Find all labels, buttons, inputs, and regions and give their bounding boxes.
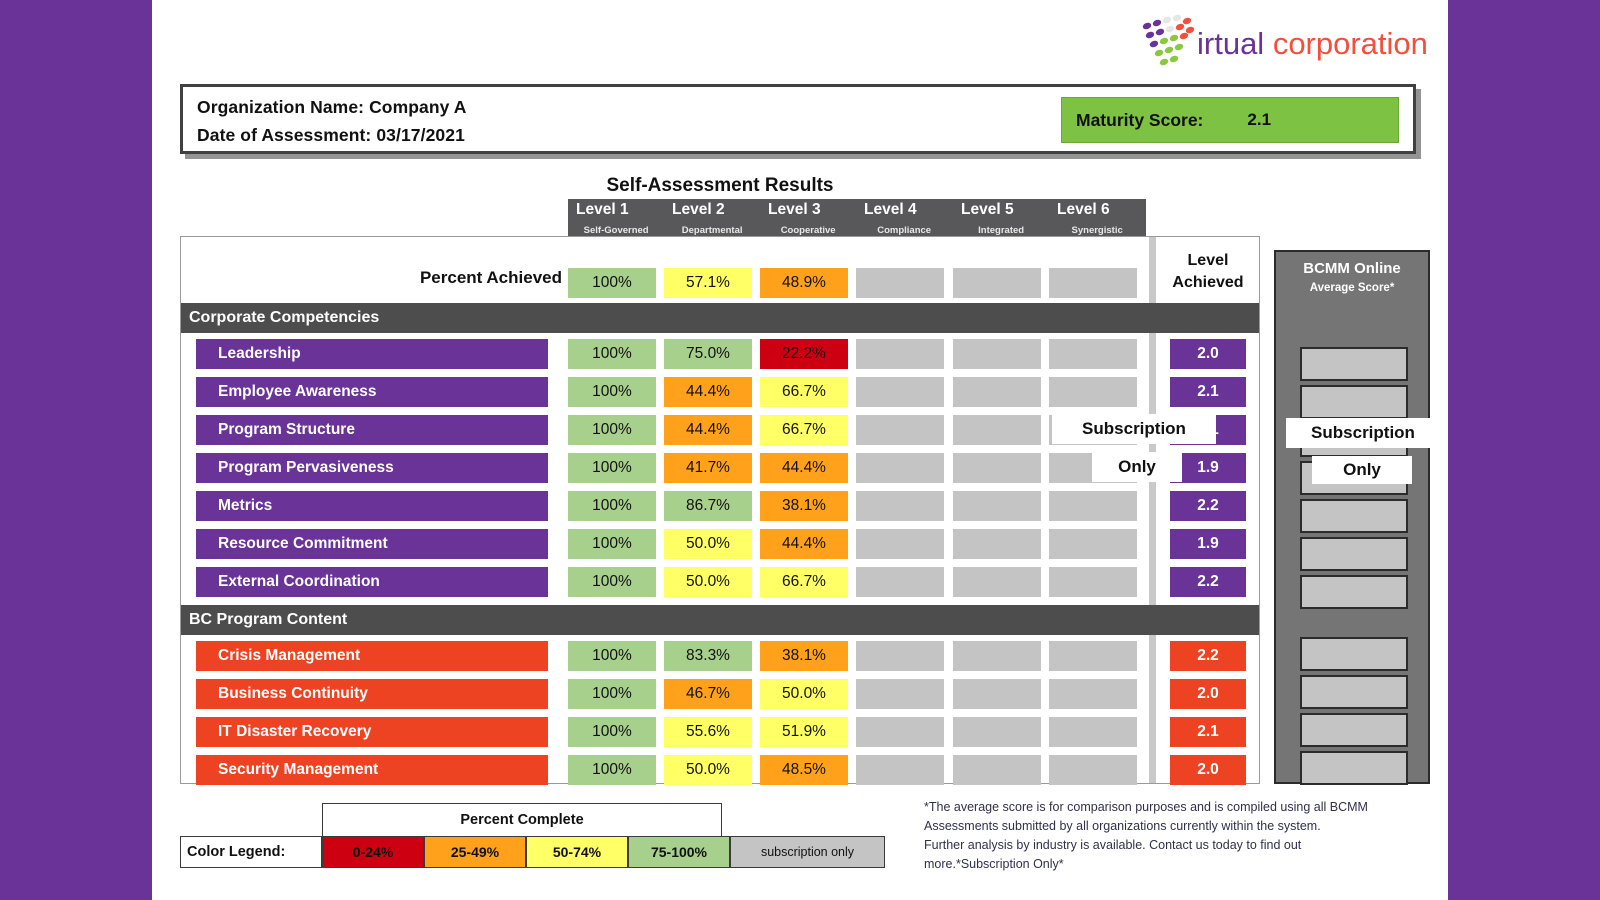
row-1-7-level-1-value: 100% [568,567,656,597]
percent-achieved-level-6-value [1049,268,1137,298]
level-subtitle: Synergistic [1049,225,1145,236]
level-achieved-header: Level Achieved [1156,250,1260,294]
bcmm-average-score-box-10 [1300,713,1408,747]
row-2-4-level-3-value: 48.5% [760,755,848,785]
section-header-label: BC Program Content [189,611,347,629]
level-achieved-value-2-4: 2.0 [1170,755,1246,785]
level-name: Level 1 [568,201,664,219]
bcmm-subscription-overlay-line2: Only [1312,456,1412,484]
level-subtitle: Integrated [953,225,1049,236]
bcmm-panel-title-line2: Average Score* [1276,282,1428,294]
row-label-text: Program Pervasiveness [218,459,394,477]
report-page: irtual corporation Organization Name: Co… [152,0,1448,900]
row-1-4-level-3-value: 44.4% [760,453,848,483]
row-label-2-4[interactable]: Security Management [196,755,548,785]
row-1-5-level-5-value [953,491,1041,521]
row-label-2-2[interactable]: Business Continuity [196,679,548,709]
row-2-3-cells: 100%55.6%51.9% [568,717,1146,747]
legend-swatch-subscription-only: subscription only [730,836,885,868]
row-1-4-cells: 100%41.7%44.4% [568,453,1146,483]
level-subtitle: Compliance [856,225,952,236]
subscription-overlay-line1: Subscription [1052,414,1216,444]
row-label-text: Resource Commitment [218,535,388,553]
row-label-1-6[interactable]: Resource Commitment [196,529,548,559]
row-1-5-level-1-value: 100% [568,491,656,521]
row-label-text: Business Continuity [218,685,368,703]
subscription-overlay-line2: Only [1092,452,1182,482]
row-1-1-level-1-value: 100% [568,339,656,369]
row-1-1-level-5-value [953,339,1041,369]
row-2-2-level-4-value [856,679,944,709]
virtual-corporation-logo: irtual corporation [1137,8,1427,70]
level-achieved-value-1-6: 1.9 [1170,529,1246,559]
row-1-7-level-2-value: 50.0% [664,567,752,597]
footnote-line-4: more.*Subscription Only* [924,855,1444,874]
bcmm-average-score-box-2 [1300,385,1408,419]
level-achieved-value-2-3: 2.1 [1170,717,1246,747]
maturity-score-badge: Maturity Score: 2.1 [1061,97,1399,143]
row-1-1-level-2-value: 75.0% [664,339,752,369]
row-1-3-level-3-value: 66.7% [760,415,848,445]
row-label-1-1[interactable]: Leadership [196,339,548,369]
section-header-1: Corporate Competencies [181,303,1259,333]
row-2-2-level-3-value: 50.0% [760,679,848,709]
bcmm-online-panel: BCMM Online Average Score* [1274,250,1430,784]
row-label-text: External Coordination [218,573,380,591]
legend-swatch-4: 75-100% [628,836,730,868]
bcmm-average-score-box-9 [1300,675,1408,709]
row-2-4-cells: 100%50.0%48.5% [568,755,1146,785]
logo-word-virtual: irtual [1197,26,1264,61]
bcmm-panel-title-line1: BCMM Online [1276,260,1428,277]
row-1-2-cells: 100%44.4%66.7% [568,377,1146,407]
level-achieved-value-2-2: 2.0 [1170,679,1246,709]
row-label-1-7[interactable]: External Coordination [196,567,548,597]
row-2-4-level-5-value [953,755,1041,785]
color-legend: Color Legend: 0-24%25-49%50-74%75-100%su… [180,836,880,868]
row-label-text: Crisis Management [218,647,360,665]
row-1-6-level-2-value: 50.0% [664,529,752,559]
row-1-7-cells: 100%50.0%66.7% [568,567,1146,597]
level-name: Level 5 [953,201,1049,219]
row-2-2-level-6-value [1049,679,1137,709]
assessment-date: Date of Assessment: 03/17/2021 [197,125,465,146]
section-header-2: BC Program Content [181,605,1259,635]
row-label-2-1[interactable]: Crisis Management [196,641,548,671]
row-2-4-level-1-value: 100% [568,755,656,785]
level-name: Level 2 [664,201,760,219]
row-2-2-cells: 100%46.7%50.0% [568,679,1146,709]
row-1-6-level-6-value [1049,529,1137,559]
percent-achieved-cells: 100%57.1%48.9% [568,268,1146,298]
percent-achieved-level-4-value [856,268,944,298]
row-2-2-level-5-value [953,679,1041,709]
row-2-4-level-2-value: 50.0% [664,755,752,785]
row-1-4-level-4-value [856,453,944,483]
level-name: Level 4 [856,201,952,219]
row-label-1-3[interactable]: Program Structure [196,415,548,445]
row-1-4-level-1-value: 100% [568,453,656,483]
level-achieved-value-1-2: 2.1 [1170,377,1246,407]
row-label-1-4[interactable]: Program Pervasiveness [196,453,548,483]
row-1-3-level-2-value: 44.4% [664,415,752,445]
maturity-score-label: Maturity Score: [1076,110,1203,131]
footnote-line-1: *The average score is for comparison pur… [924,798,1444,817]
level-achieved-value-2-1: 2.2 [1170,641,1246,671]
level-name: Level 6 [1049,201,1145,219]
bcmm-average-score-box-8 [1300,637,1408,671]
row-1-2-level-2-value: 44.4% [664,377,752,407]
color-legend-label-text: Color Legend: [187,844,285,860]
row-2-4-level-4-value [856,755,944,785]
row-1-4-level-5-value [953,453,1041,483]
level-achieved-header-line1: Level [1156,250,1260,272]
row-2-3-level-6-value [1049,717,1137,747]
bcmm-average-score-box-1 [1300,347,1408,381]
row-1-2-level-4-value [856,377,944,407]
row-1-1-level-4-value [856,339,944,369]
maturity-score-value: 2.1 [1247,110,1271,130]
row-2-1-level-4-value [856,641,944,671]
bcmm-average-score-box-11 [1300,751,1408,785]
row-1-2-level-3-value: 66.7% [760,377,848,407]
level-subtitle: Self-Governed [568,225,664,236]
bcmm-average-score-box-6 [1300,537,1408,571]
percent-achieved-level-5-value [953,268,1041,298]
legend-swatch-3: 50-74% [526,836,628,868]
row-1-1-level-6-value [1049,339,1137,369]
row-1-6-level-5-value [953,529,1041,559]
logo-wordmark: irtual corporation [1197,26,1428,62]
level-achieved-value-1-5: 2.2 [1170,491,1246,521]
row-label-text: Employee Awareness [218,383,377,401]
level-achieved-value-1-1: 2.0 [1170,339,1246,369]
section-header-label: Corporate Competencies [189,309,379,327]
row-2-2-level-1-value: 100% [568,679,656,709]
percent-achieved-label: Percent Achieved [180,268,562,288]
row-label-text: Security Management [218,761,378,779]
level-subtitle: Cooperative [760,225,856,236]
assessment-header-box: Organization Name: Company A Date of Ass… [180,84,1416,154]
row-2-3-level-5-value [953,717,1041,747]
row-1-3-level-1-value: 100% [568,415,656,445]
row-1-5-cells: 100%86.7%38.1% [568,491,1146,521]
row-1-6-level-4-value [856,529,944,559]
logo-word-corporation: corporation [1264,26,1428,61]
row-label-text: Metrics [218,497,272,515]
row-2-1-level-3-value: 38.1% [760,641,848,671]
row-label-1-5[interactable]: Metrics [196,491,548,521]
row-1-5-level-3-value: 38.1% [760,491,848,521]
level-achieved-header-line2: Achieved [1156,272,1260,294]
row-1-2-level-6-value [1049,377,1137,407]
row-1-7-level-6-value [1049,567,1137,597]
row-1-6-cells: 100%50.0%44.4% [568,529,1146,559]
row-2-3-level-3-value: 51.9% [760,717,848,747]
row-label-2-3[interactable]: IT Disaster Recovery [196,717,548,747]
bcmm-average-score-box-7 [1300,575,1408,609]
row-2-3-level-4-value [856,717,944,747]
row-1-7-level-5-value [953,567,1041,597]
percent-achieved-level-1-value: 100% [568,268,656,298]
row-2-1-cells: 100%83.3%38.1% [568,641,1146,671]
row-1-6-level-3-value: 44.4% [760,529,848,559]
row-2-3-level-2-value: 55.6% [664,717,752,747]
row-label-text: Program Structure [218,421,355,439]
row-1-3-level-4-value [856,415,944,445]
footnote-line-3: Further analysis by industry is availabl… [924,836,1444,855]
percent-complete-title: Percent Complete [322,803,722,836]
bcmm-average-score-box-5 [1300,499,1408,533]
row-1-5-level-6-value [1049,491,1137,521]
row-2-1-level-1-value: 100% [568,641,656,671]
row-label-text: IT Disaster Recovery [218,723,371,741]
row-1-1-cells: 100%75.0%22.2% [568,339,1146,369]
row-1-3-level-5-value [953,415,1041,445]
percent-achieved-level-3-value: 48.9% [760,268,848,298]
level-subtitle: Departmental [664,225,760,236]
page-title: Self-Assessment Results [420,175,1020,197]
row-1-5-level-4-value [856,491,944,521]
footnote-line-2: Assessments submitted by all organizatio… [924,817,1444,836]
row-1-2-level-1-value: 100% [568,377,656,407]
level-name: Level 3 [760,201,856,219]
row-1-1-level-3-value: 22.2% [760,339,848,369]
row-2-1-level-5-value [953,641,1041,671]
bcmm-subscription-overlay-line1: Subscription [1286,418,1440,448]
row-1-2-level-5-value [953,377,1041,407]
row-2-4-level-6-value [1049,755,1137,785]
row-2-1-level-6-value [1049,641,1137,671]
percent-achieved-level-2-value: 57.1% [664,268,752,298]
row-1-6-level-1-value: 100% [568,529,656,559]
level-achieved-value-1-7: 2.2 [1170,567,1246,597]
legend-swatch-1: 0-24% [322,836,424,868]
color-legend-label: Color Legend: [180,836,322,868]
row-2-3-level-1-value: 100% [568,717,656,747]
row-1-7-level-3-value: 66.7% [760,567,848,597]
row-label-text: Leadership [218,345,301,363]
row-label-1-2[interactable]: Employee Awareness [196,377,548,407]
row-1-7-level-4-value [856,567,944,597]
row-2-1-level-2-value: 83.3% [664,641,752,671]
row-1-4-level-2-value: 41.7% [664,453,752,483]
row-2-2-level-2-value: 46.7% [664,679,752,709]
footnote: *The average score is for comparison pur… [924,798,1444,874]
organization-name: Organization Name: Company A [197,97,467,118]
legend-swatch-2: 25-49% [424,836,526,868]
row-1-5-level-2-value: 86.7% [664,491,752,521]
